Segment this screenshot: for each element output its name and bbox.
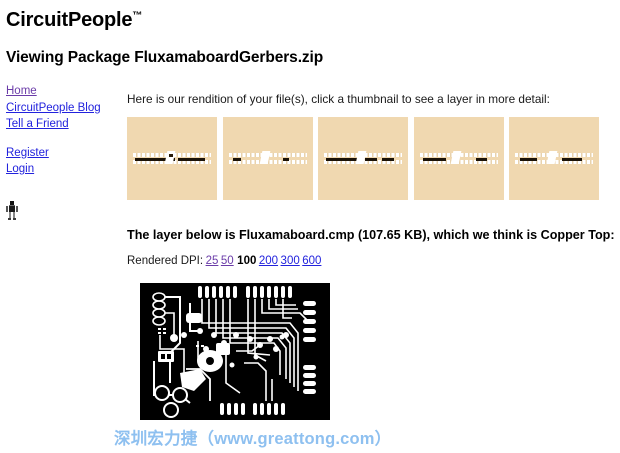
sidebar-item-tell-a-friend[interactable]: Tell a Friend xyxy=(6,116,118,133)
dpi-selector-row: Rendered DPI:2550100200300600 xyxy=(127,255,321,267)
layer-info-heading: The layer below is Fluxamaboard.cmp (107… xyxy=(127,228,615,242)
sidebar-divider-space xyxy=(6,133,118,145)
sidebar-item-register[interactable]: Register xyxy=(6,145,118,162)
watermark-text: 深圳宏力捷（www.greattong.com） xyxy=(114,425,391,449)
thumbnail-board-graphic xyxy=(515,153,593,164)
dpi-option-100-selected: 100 xyxy=(237,255,256,267)
copper-top-layer-render[interactable] xyxy=(140,283,330,420)
intro-text: Here is our rendition of your file(s), c… xyxy=(127,92,550,106)
thumbnail-board-graphic xyxy=(229,153,307,164)
sidebar-item-home[interactable]: Home xyxy=(6,83,118,100)
thumbnail-board-graphic xyxy=(420,153,498,164)
site-title: CircuitPeople™ xyxy=(6,9,142,32)
layer-thumbnail-1[interactable] xyxy=(127,117,217,200)
layer-thumbnail-3[interactable] xyxy=(318,117,408,200)
dpi-option-25[interactable]: 25 xyxy=(206,255,219,267)
thumbnail-strip xyxy=(127,117,599,200)
main-content: Here is our rendition of your file(s), c… xyxy=(127,0,620,453)
dpi-option-300[interactable]: 300 xyxy=(281,255,300,267)
dpi-option-50[interactable]: 50 xyxy=(221,255,234,267)
sidebar-nav: Home CircuitPeople Blog Tell a Friend Re… xyxy=(6,83,118,178)
layer-thumbnail-4[interactable] xyxy=(414,117,504,200)
robot-person-icon xyxy=(4,201,20,223)
layer-thumbnail-5[interactable] xyxy=(509,117,599,200)
sidebar-item-blog[interactable]: CircuitPeople Blog xyxy=(6,100,118,117)
site-title-text: CircuitPeople xyxy=(6,9,132,31)
dpi-label: Rendered DPI: xyxy=(127,255,203,267)
dpi-option-600[interactable]: 600 xyxy=(302,255,321,267)
thumbnail-board-graphic xyxy=(324,153,402,164)
dpi-option-200[interactable]: 200 xyxy=(259,255,278,267)
sidebar-item-login[interactable]: Login xyxy=(6,161,118,178)
layer-thumbnail-2[interactable] xyxy=(223,117,313,200)
thumbnail-board-graphic xyxy=(133,153,211,164)
